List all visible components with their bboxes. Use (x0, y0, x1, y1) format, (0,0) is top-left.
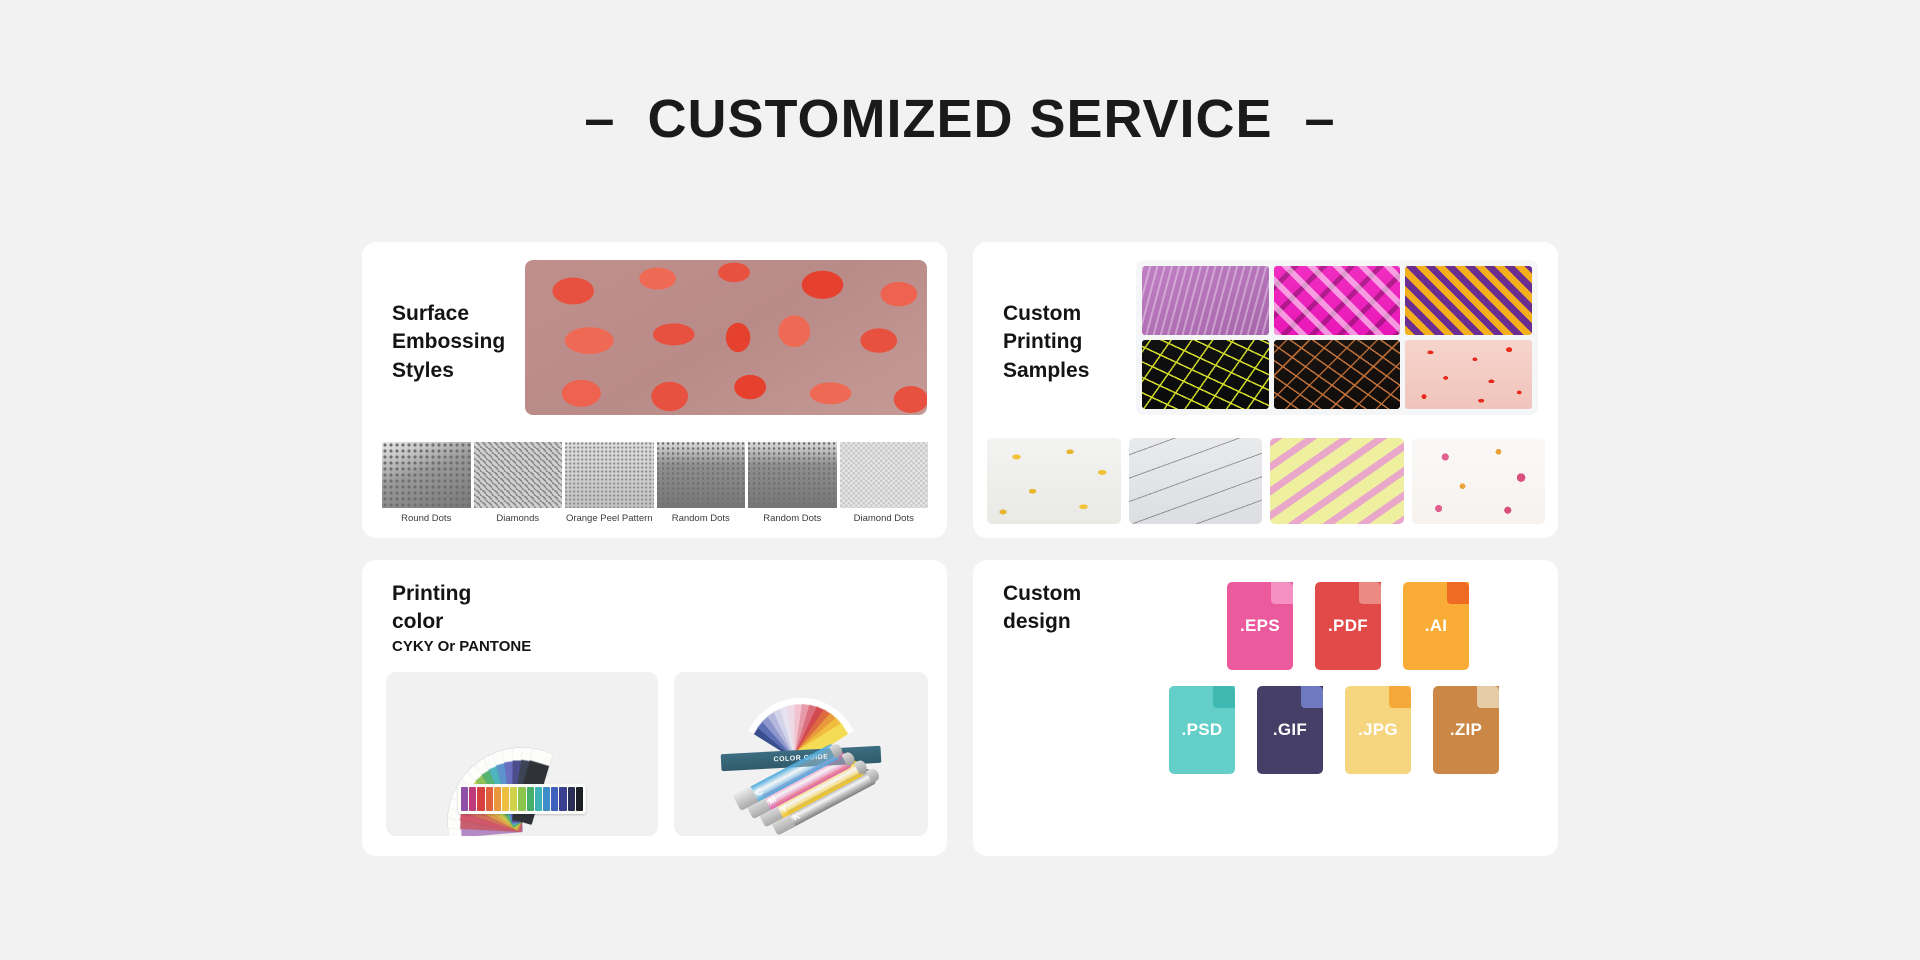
embossing-thumbnail[interactable]: Diamonds (474, 442, 563, 524)
embossing-thumbnail-label: Random Dots (748, 513, 837, 524)
magenta-plaid-swatch (1274, 266, 1401, 335)
swatch-fan-panel (386, 672, 658, 836)
printing-sample-row (987, 438, 1545, 524)
service-cards-grid: Surface Embossing Styles Round DotsDiamo… (362, 242, 1558, 856)
file-format-label: .JPG (1358, 720, 1398, 740)
file-format-label: .PSD (1182, 720, 1223, 740)
color-chip (461, 787, 468, 811)
embossing-thumbnail-label: Random Dots (657, 513, 746, 524)
card-surface-embossing[interactable]: Surface Embossing Styles Round DotsDiamo… (362, 242, 947, 538)
purple-embossed-swatch (1142, 266, 1269, 335)
color-chip (486, 787, 493, 811)
red-leopard-swatch (1405, 340, 1532, 409)
file-corner-fold-icon (1447, 582, 1469, 604)
embossing-thumbnail[interactable]: Random Dots (657, 442, 746, 524)
embossing-thumbnail-label: Orange Peel Pattern (565, 513, 654, 524)
file-icon-zip[interactable]: .ZIP (1433, 686, 1499, 774)
black-copper-line-art-swatch (1274, 340, 1401, 409)
color-chip (494, 787, 501, 811)
file-corner-fold-icon (1213, 686, 1235, 708)
banana-print-sample (987, 438, 1121, 524)
embossing-texture-image (657, 442, 746, 508)
file-format-row: .EPS.PDF.AI (1169, 582, 1541, 670)
embossing-hero-image (525, 260, 927, 415)
file-corner-fold-icon (1359, 582, 1381, 604)
card-title-color: Printing color (392, 580, 471, 637)
color-chip (535, 787, 542, 811)
card-title-printing: Custom Printing Samples (1003, 300, 1089, 385)
embossing-thumbnail[interactable]: Orange Peel Pattern (565, 442, 654, 524)
color-chip (527, 787, 534, 811)
file-corner-fold-icon (1301, 686, 1323, 708)
file-corner-fold-icon (1477, 686, 1499, 708)
embossing-texture-image (840, 442, 929, 508)
card-custom-design[interactable]: Custom design .EPS.PDF.AI.PSD.GIF.JPG.ZI… (973, 560, 1558, 856)
embossing-thumbnail-label: Diamonds (474, 513, 563, 524)
embossing-texture-image (474, 442, 563, 508)
yellow-pink-stripe-sample (1270, 438, 1404, 524)
file-format-label: .ZIP (1450, 720, 1482, 740)
file-icon-eps[interactable]: .EPS (1227, 582, 1293, 670)
card-title-embossing: Surface Embossing Styles (392, 300, 505, 385)
card-custom-printing-samples[interactable]: Custom Printing Samples (973, 242, 1558, 538)
file-icon-gif[interactable]: .GIF (1257, 686, 1323, 774)
color-panels: COLOR GUIDE CMYK (386, 672, 928, 836)
printing-swatch-grid (1136, 260, 1538, 415)
color-chip (510, 787, 517, 811)
embossing-thumbnail-label: Round Dots (382, 513, 471, 524)
file-icon-jpg[interactable]: .JPG (1345, 686, 1411, 774)
embossing-texture-image (565, 442, 654, 508)
file-icon-ai[interactable]: .AI (1403, 582, 1469, 670)
file-corner-fold-icon (1389, 686, 1411, 708)
color-chip-strip (458, 784, 586, 814)
file-format-label: .GIF (1273, 720, 1307, 740)
color-chip (576, 787, 583, 811)
color-chip (551, 787, 558, 811)
pantone-cmyk-panel: COLOR GUIDE CMYK (674, 672, 928, 836)
color-chip (543, 787, 550, 811)
embossing-thumbnail[interactable]: Random Dots (748, 442, 837, 524)
embossing-thumbnail[interactable]: Round Dots (382, 442, 471, 524)
card-printing-color[interactable]: Printing color CYKY Or PANTONE COLOR GUI… (362, 560, 947, 856)
file-format-label: .AI (1425, 616, 1448, 636)
color-chip (469, 787, 476, 811)
pantone-guide-fan (674, 678, 928, 756)
page-title: – CUSTOMIZED SERVICE – (0, 0, 1920, 150)
file-icon-pdf[interactable]: .PDF (1315, 582, 1381, 670)
embossing-thumbnail-row: Round DotsDiamondsOrange Peel PatternRan… (382, 442, 928, 524)
color-chip (502, 787, 509, 811)
file-format-label: .EPS (1240, 616, 1280, 636)
black-yellow-flamingo-swatch (1142, 340, 1269, 409)
file-format-grid: .EPS.PDF.AI.PSD.GIF.JPG.ZIP (1169, 582, 1541, 774)
embossing-texture-image (748, 442, 837, 508)
color-chip (559, 787, 566, 811)
file-format-label: .PDF (1328, 616, 1368, 636)
color-chip (477, 787, 484, 811)
file-icon-psd[interactable]: .PSD (1169, 686, 1235, 774)
dessert-donut-sample (1412, 438, 1546, 524)
card-subtitle-color: CYKY Or PANTONE (392, 638, 531, 655)
color-chip (568, 787, 575, 811)
card-title-design: Custom design (1003, 580, 1081, 637)
color-chip (518, 787, 525, 811)
file-corner-fold-icon (1271, 582, 1293, 604)
embossing-thumbnail-label: Diamond Dots (840, 513, 929, 524)
embossing-texture-image (382, 442, 471, 508)
line-art-hands-sample (1129, 438, 1263, 524)
embossing-thumbnail[interactable]: Diamond Dots (840, 442, 929, 524)
purple-yellow-geometric-swatch (1405, 266, 1532, 335)
file-format-row: .PSD.GIF.JPG.ZIP (1169, 686, 1541, 774)
